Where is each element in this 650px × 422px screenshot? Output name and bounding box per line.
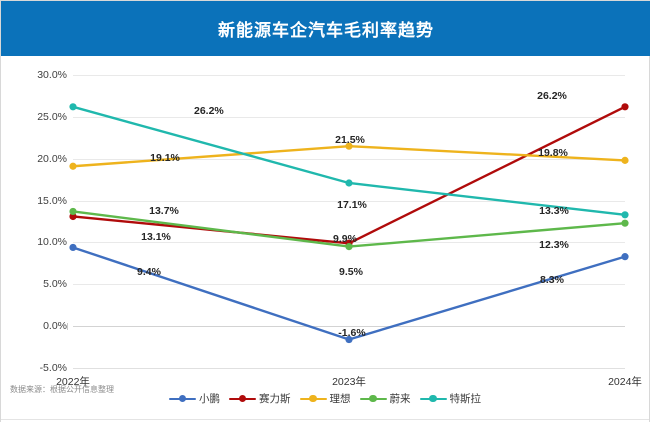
data-point-marker: [69, 244, 76, 251]
y-axis-tick-label: -5.0%: [7, 362, 67, 374]
data-point-label: 26.2%: [537, 90, 567, 102]
footer-divider: [1, 419, 649, 420]
data-point-label: -1.6%: [338, 327, 365, 339]
legend-label: 小鹏: [199, 391, 220, 406]
data-point-label: 13.7%: [149, 205, 179, 217]
y-axis-tick-mark: [67, 323, 68, 330]
data-point-marker: [69, 208, 76, 215]
data-point-label: 21.5%: [335, 134, 365, 146]
data-point-label: 26.2%: [194, 105, 224, 117]
x-axis-line: [73, 368, 625, 369]
y-axis-tick-label: 20.0%: [7, 153, 67, 165]
data-point-label: 19.1%: [150, 152, 180, 164]
legend-item-特斯拉[interactable]: 特斯拉: [420, 391, 482, 406]
legend-item-赛力斯[interactable]: 赛力斯: [229, 391, 291, 406]
data-point-marker: [621, 253, 628, 260]
data-point-marker: [69, 103, 76, 110]
legend-label: 赛力斯: [259, 391, 291, 406]
data-point-marker: [621, 103, 628, 110]
chart-legend: 小鹏赛力斯理想蔚来特斯拉: [1, 391, 649, 406]
legend-item-小鹏[interactable]: 小鹏: [169, 391, 220, 406]
chart-footer: 数据来源：根据公开信息整理 小鹏赛力斯理想蔚来特斯拉: [1, 381, 649, 422]
data-point-marker: [621, 157, 628, 164]
data-point-marker: [69, 163, 76, 170]
legend-item-理想[interactable]: 理想: [300, 391, 351, 406]
y-axis-tick-label: 5.0%: [7, 278, 67, 290]
y-axis-tick-label: 10.0%: [7, 236, 67, 248]
data-point-label: 8.3%: [540, 274, 564, 286]
data-point-label: 19.8%: [538, 147, 568, 159]
series-lines: [73, 75, 625, 368]
y-axis-tick-label: 0.0%: [7, 320, 67, 332]
data-point-label: 12.3%: [539, 239, 569, 251]
plot-canvas: 26.2%19.1%13.7%13.1%9.4%21.5%17.1%9.9%9.…: [73, 75, 625, 368]
data-point-marker: [621, 220, 628, 227]
legend-marker-icon: [300, 394, 327, 404]
chart-screenshot: 新能源车企汽车毛利率趋势 30.0%25.0%20.0%15.0%10.0%5.…: [0, 0, 650, 422]
y-axis: 30.0%25.0%20.0%15.0%10.0%5.0%0.0%-5.0%: [1, 75, 67, 368]
series-line-小鹏: [73, 247, 625, 339]
chart-title: 新能源车企汽车毛利率趋势: [1, 1, 650, 56]
data-point-label: 17.1%: [337, 199, 367, 211]
legend-label: 特斯拉: [450, 391, 482, 406]
y-axis-tick-label: 25.0%: [7, 111, 67, 123]
data-point-marker: [345, 179, 352, 186]
plot-area: 30.0%25.0%20.0%15.0%10.0%5.0%0.0%-5.0% 2…: [1, 56, 649, 422]
data-point-marker: [621, 211, 628, 218]
legend-label: 蔚来: [390, 391, 411, 406]
data-point-label: 9.9%: [333, 233, 357, 245]
data-point-label: 13.3%: [539, 205, 569, 217]
y-axis-tick-label: 15.0%: [7, 195, 67, 207]
legend-marker-icon: [229, 394, 256, 404]
legend-marker-icon: [360, 394, 387, 404]
data-point-label: 9.5%: [339, 266, 363, 278]
data-point-label: 13.1%: [141, 231, 171, 243]
y-axis-tick-label: 30.0%: [7, 69, 67, 81]
data-point-label: 9.4%: [137, 266, 161, 278]
legend-marker-icon: [420, 394, 447, 404]
legend-marker-icon: [169, 394, 196, 404]
legend-item-蔚来[interactable]: 蔚来: [360, 391, 411, 406]
legend-label: 理想: [330, 391, 351, 406]
